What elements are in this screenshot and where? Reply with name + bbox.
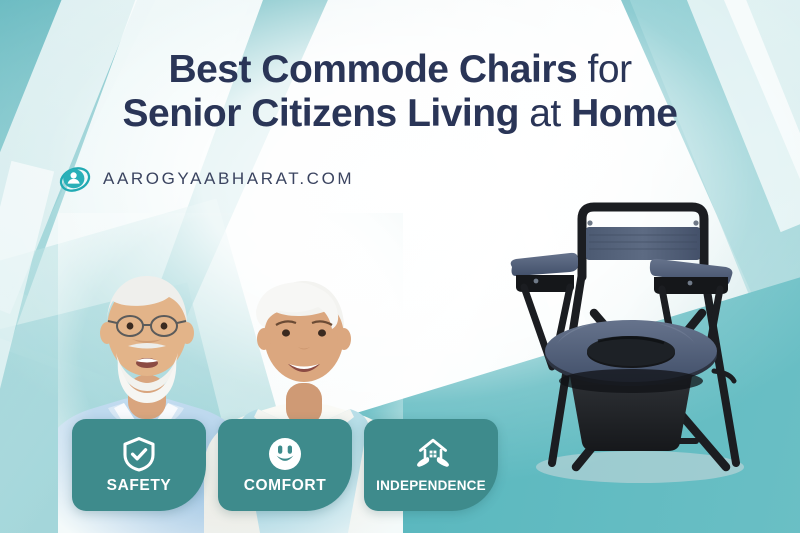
smiley-face-icon xyxy=(267,436,303,472)
house-in-hands-icon xyxy=(413,437,449,473)
badge-comfort[interactable]: COMFORT xyxy=(218,419,352,511)
brand-name: AAROGYAABHARAT.COM xyxy=(103,169,354,189)
feature-badge-row: SAFETY COMFORT xyxy=(72,419,498,511)
brand-lockup[interactable]: AAROGYAABHARAT.COM xyxy=(58,162,354,196)
badge-label: COMFORT xyxy=(244,477,327,495)
headline-line-1-regular: for xyxy=(577,48,631,91)
headline-line-2-bold-a: Senior Citizens Living xyxy=(123,92,519,135)
page-title: Best Commode Chairs for Senior Citizens … xyxy=(0,48,800,136)
shield-check-icon xyxy=(121,436,157,472)
commode-chair-photo xyxy=(490,195,790,495)
headline-line-2-regular: at xyxy=(519,92,571,135)
badge-label: INDEPENDENCE xyxy=(376,478,486,493)
promo-banner: Best Commode Chairs for Senior Citizens … xyxy=(0,0,800,533)
badge-independence[interactable]: INDEPENDENCE xyxy=(364,419,498,511)
person-globe-logo-icon xyxy=(58,162,92,196)
badge-safety[interactable]: SAFETY xyxy=(72,419,206,511)
headline-line-2-bold-b: Home xyxy=(571,92,677,135)
headline-line-1: Best Commode Chairs for xyxy=(0,48,800,92)
headline-line-2: Senior Citizens Living at Home xyxy=(0,92,800,136)
badge-label: SAFETY xyxy=(107,477,172,495)
headline-line-1-bold: Best Commode Chairs xyxy=(168,48,577,91)
